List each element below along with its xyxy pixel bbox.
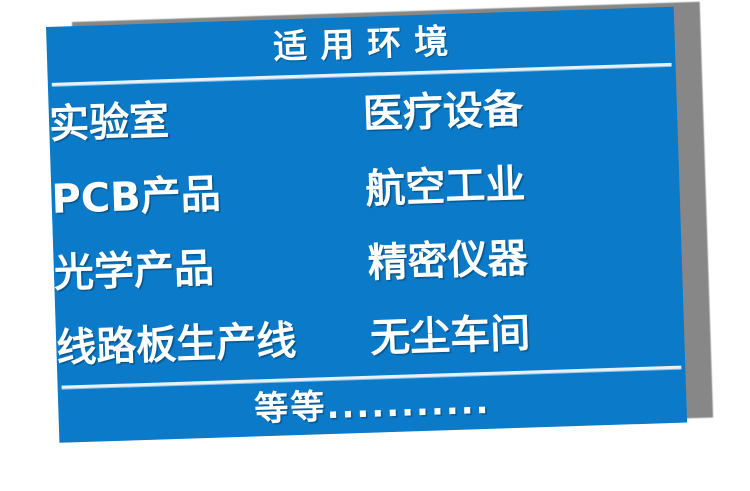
grid-cell-row1-right: 医疗设备 bbox=[362, 85, 677, 135]
applicable-environment-panel: 适用环境 实验室 医疗设备 PCB产品 航空工业 光学产品 精密仪器 bbox=[46, 7, 687, 443]
environment-item-label: 医疗设备 bbox=[362, 90, 523, 135]
grid-cell-row3-right: 精密仪器 bbox=[367, 234, 682, 284]
panel-footer-text: 等等........... bbox=[254, 385, 491, 427]
grid-cell-row2-left: PCB产品 bbox=[51, 170, 366, 220]
grid-cell-row3-left: 光学产品 bbox=[53, 244, 368, 294]
grid-cell-row4-right: 无尘车间 bbox=[370, 308, 685, 358]
environment-items-grid: 实验室 医疗设备 PCB产品 航空工业 光学产品 精密仪器 线路板生产线 无尘车… bbox=[48, 66, 685, 386]
grid-cell-row2-right: 航空工业 bbox=[365, 159, 680, 209]
grid-cell-row4-left: 线路板生产线 bbox=[56, 318, 371, 368]
environment-item-label: 线路板生产线 bbox=[56, 321, 297, 369]
environment-item-label: PCB产品 bbox=[51, 174, 221, 219]
panel-title: 适用环境 bbox=[260, 25, 462, 65]
environment-item-label: 光学产品 bbox=[53, 249, 214, 294]
environment-item-label: 无尘车间 bbox=[370, 313, 531, 358]
graphic-stage: 适用环境 实验室 医疗设备 PCB产品 航空工业 光学产品 精密仪器 bbox=[0, 0, 750, 491]
environment-item-label: 实验室 bbox=[49, 101, 170, 145]
environment-item-label: 航空工业 bbox=[365, 164, 526, 209]
grid-cell-row1-left: 实验室 bbox=[49, 95, 364, 145]
environment-item-label: 精密仪器 bbox=[367, 239, 528, 284]
